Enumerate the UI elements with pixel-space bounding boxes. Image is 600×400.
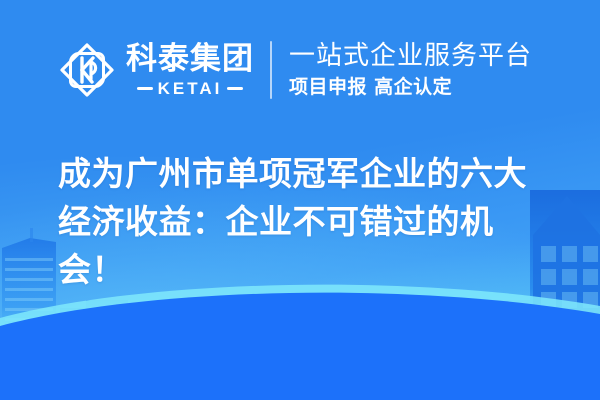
banner-header: 科泰集团 KETAI 一站式企业服务平台 项目申报 高企认定 — [0, 0, 600, 140]
header-tagline: 一站式企业服务平台 项目申报 高企认定 — [289, 42, 532, 98]
tagline-sub: 项目申报 高企认定 — [289, 77, 532, 98]
brand-name-en-row: KETAI — [137, 80, 244, 97]
vertical-divider-icon — [270, 41, 272, 99]
page-title: 成为广州市单项冠军企业的六大经济收益：企业不可错过的机会！ — [58, 150, 548, 294]
brand-name-cn: 科泰集团 — [126, 44, 254, 75]
brand-logo[interactable]: 科泰集团 KETAI — [58, 41, 254, 99]
promo-banner: 科泰集团 KETAI 一站式企业服务平台 项目申报 高企认定 成为广州市单项冠军… — [0, 0, 600, 400]
brand-name-en: KETAI — [158, 80, 223, 97]
logo-dash-left-icon — [137, 87, 153, 90]
tagline-main: 一站式企业服务平台 — [289, 42, 532, 71]
ketai-kp-diamond-logo-icon — [58, 41, 116, 99]
logo-dash-right-icon — [227, 87, 243, 90]
brand-logo-text: 科泰集团 KETAI — [126, 44, 254, 97]
